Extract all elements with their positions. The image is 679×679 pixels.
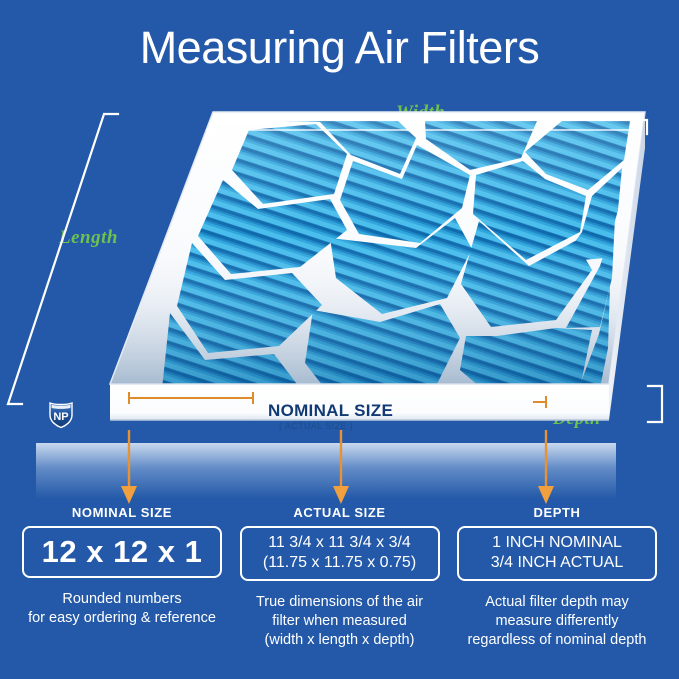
infographic-canvas: Measuring Air Filters Width Length Depth (0, 0, 679, 679)
caption-line: Actual filter depth may (457, 593, 657, 612)
caption-line: for easy ordering & reference (22, 609, 222, 628)
caption-line: (width x length x depth) (240, 631, 440, 650)
block-value-big: 12 x 12 x 1 (42, 536, 203, 569)
block-value-line: (11.75 x 11.75 x 0.75) (263, 553, 416, 573)
front-nominal-size-text: NOMINAL SIZE (268, 401, 393, 421)
arrow-heads (121, 486, 554, 504)
block-title: ACTUAL SIZE (240, 505, 440, 520)
callout-arrows (0, 430, 679, 510)
block-value-box[interactable]: 11 3/4 x 11 3/4 x 3/4 (11.75 x 11.75 x 0… (240, 526, 440, 581)
caption-line: filter when measured (240, 612, 440, 631)
pleat-cells (110, 112, 645, 408)
block-value-line: 1 INCH NOMINAL (492, 533, 622, 553)
info-blocks: NOMINAL SIZE 12 x 12 x 1 Rounded numbers… (0, 505, 679, 649)
caption-line: regardless of nominal depth (457, 631, 657, 650)
block-value-line: 3/4 INCH ACTUAL (491, 553, 623, 573)
block-actual-size: ACTUAL SIZE 11 3/4 x 11 3/4 x 3/4 (11.75… (240, 505, 440, 649)
block-caption: Actual filter depth may measure differen… (457, 593, 657, 650)
depth-bracket (648, 386, 662, 422)
block-nominal-size: NOMINAL SIZE 12 x 12 x 1 Rounded numbers… (22, 505, 222, 649)
length-bracket (8, 114, 118, 404)
block-value-box[interactable]: 12 x 12 x 1 (22, 526, 222, 578)
caption-line: True dimensions of the air (240, 593, 440, 612)
block-value-line: 11 3/4 x 11 3/4 x 3/4 (268, 533, 411, 553)
block-caption: True dimensions of the air filter when m… (240, 593, 440, 650)
air-filter-illustration (0, 108, 679, 448)
block-title: NOMINAL SIZE (22, 505, 222, 520)
caption-line: Rounded numbers (22, 590, 222, 609)
block-depth: DEPTH 1 INCH NOMINAL 3/4 INCH ACTUAL Act… (457, 505, 657, 649)
np-shield-logo: NP (48, 399, 74, 434)
block-caption: Rounded numbers for easy ordering & refe… (22, 590, 222, 628)
block-title: DEPTH (457, 505, 657, 520)
caption-line: measure differently (457, 612, 657, 631)
filter-top-surface (110, 112, 645, 408)
page-title: Measuring Air Filters (0, 22, 679, 74)
block-value-box[interactable]: 1 INCH NOMINAL 3/4 INCH ACTUAL (457, 526, 657, 581)
np-logo-text: NP (53, 411, 68, 423)
